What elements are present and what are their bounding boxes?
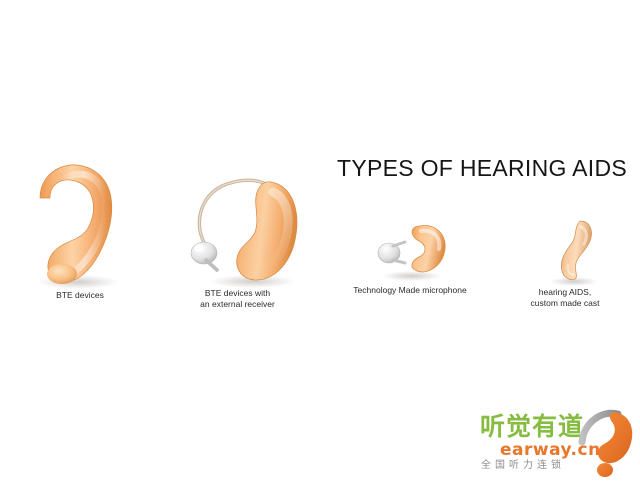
device-caption: BTE devices [0,290,160,301]
page-title: TYPES OF HEARING AIDS [337,155,627,182]
device-item-itc-microphone: Technology Made microphone [330,215,490,325]
device-item-bte-external-receiver: BTE devices with an external receiver [155,160,320,325]
device-item-custom-cast: hearing AIDS, custom made cast [495,215,635,325]
infographic-canvas: TYPES OF HEARING AIDS [0,0,640,480]
bte-hook-hearing-aid-icon [22,150,142,290]
device-caption: Technology Made microphone [330,285,490,296]
in-the-canal-hearing-aid-icon [375,215,453,281]
custom-cast-earmold-icon [550,215,605,285]
brand-tagline: 全国听力连锁 [481,460,565,472]
device-caption: hearing AIDS, custom made cast [495,287,635,309]
ear-hook-question-mark-logo [578,408,636,478]
device-item-bte: BTE devices [0,150,160,325]
brand-name-chinese: 听觉有道 [480,414,584,440]
device-caption: BTE devices with an external receiver [155,288,320,310]
brand-logo[interactable]: 听觉有道 earway.cn 全国听力连锁 [478,408,636,478]
bte-with-receiver-hearing-aid-icon [173,160,308,290]
